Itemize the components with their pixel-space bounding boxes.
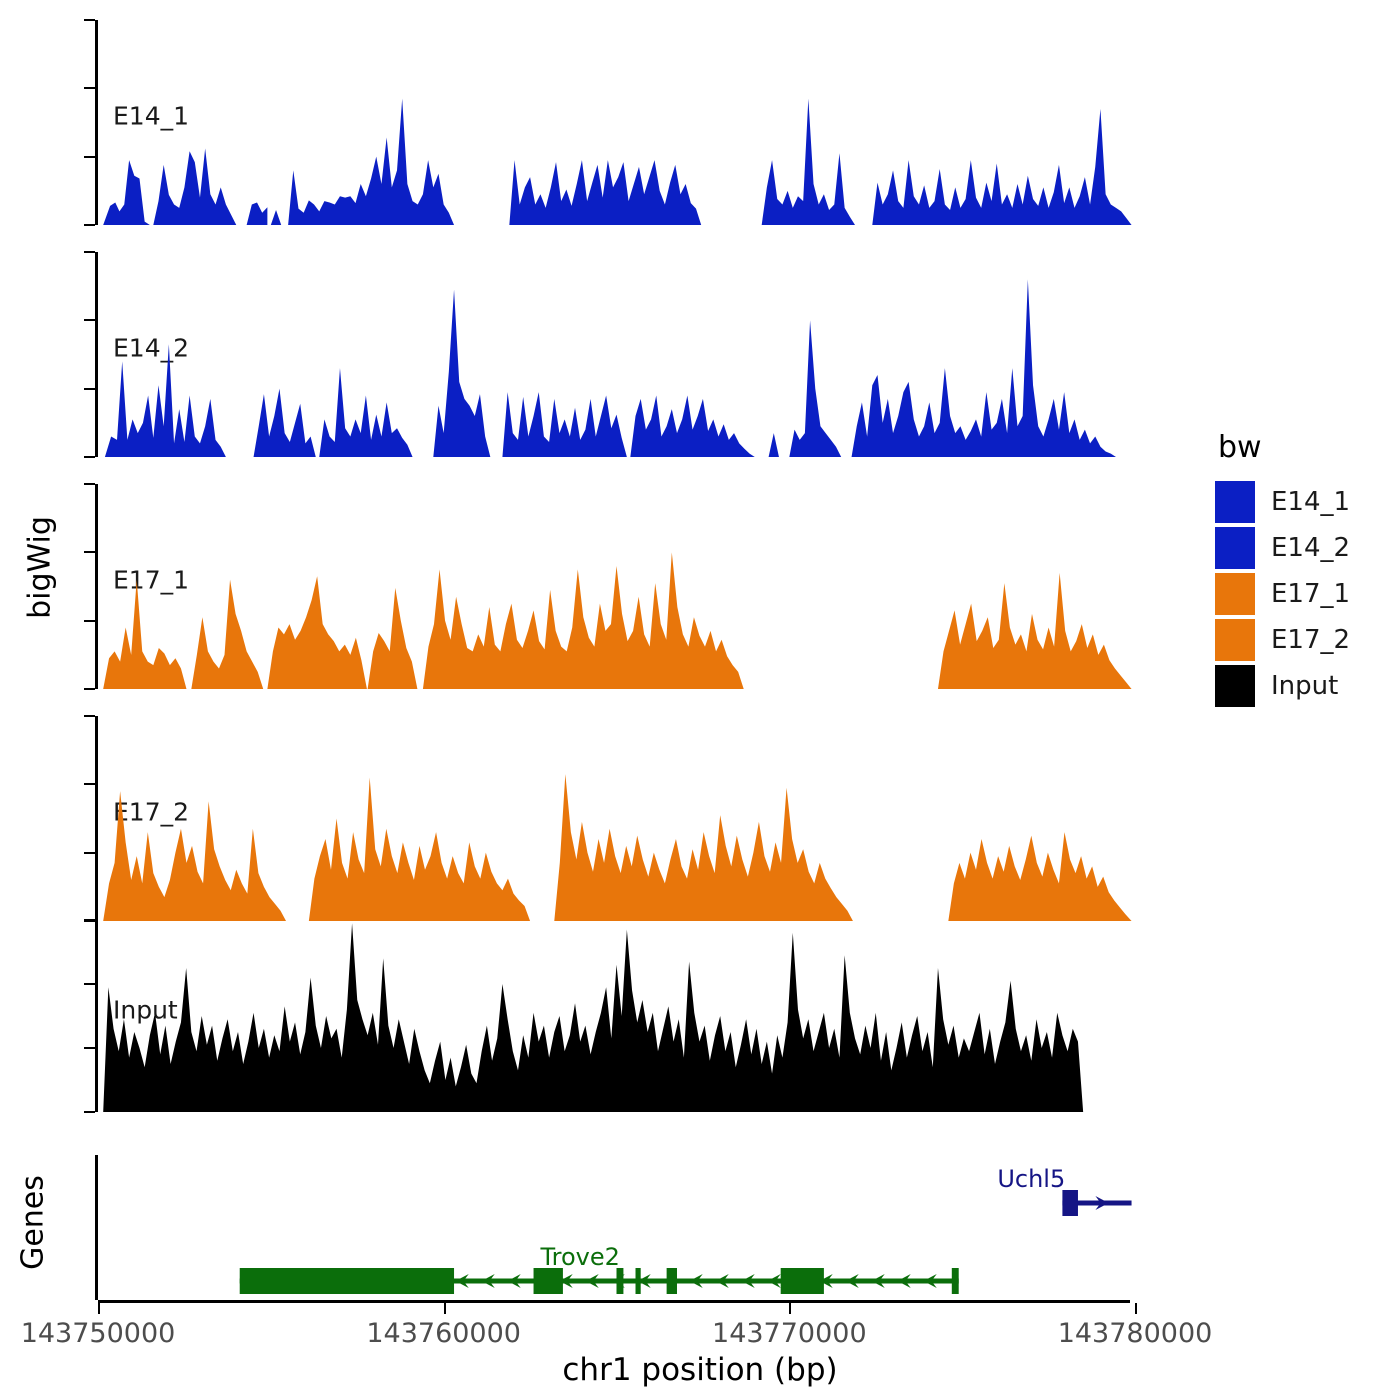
legend-item-e14_1[interactable]: E14_1 bbox=[1215, 479, 1395, 525]
y-tick bbox=[84, 551, 95, 553]
gene-model[interactable] bbox=[240, 1268, 959, 1294]
coverage-area bbox=[153, 148, 246, 225]
coverage-area bbox=[509, 160, 768, 225]
plot-area-e14_1 bbox=[98, 20, 1135, 225]
coverage-area bbox=[288, 99, 464, 225]
y-tick bbox=[84, 388, 95, 390]
coverage-area bbox=[502, 392, 626, 457]
coverage-area bbox=[368, 588, 418, 689]
y-tick bbox=[84, 224, 95, 226]
x-tick bbox=[98, 1303, 100, 1314]
gene-label-uchl5: Uchl5 bbox=[997, 1165, 1065, 1193]
y-tick bbox=[84, 87, 95, 89]
coverage-area bbox=[105, 344, 283, 457]
gene-exon bbox=[617, 1268, 624, 1294]
legend-item-input[interactable]: Input bbox=[1215, 663, 1395, 709]
coverage-area bbox=[769, 433, 779, 457]
y-tick bbox=[84, 983, 95, 985]
gene-exon bbox=[240, 1268, 454, 1294]
plot-area-e17_1 bbox=[98, 484, 1135, 689]
x-axis-line bbox=[98, 1300, 1130, 1303]
gene-label-trove2: Trove2 bbox=[541, 1243, 620, 1271]
coverage-area bbox=[319, 368, 412, 457]
y-tick bbox=[84, 456, 95, 458]
y-tick bbox=[84, 19, 95, 21]
legend-item-e17_2[interactable]: E17_2 bbox=[1215, 617, 1395, 663]
y-tick bbox=[84, 783, 95, 785]
coverage-area bbox=[789, 320, 841, 457]
coverage-area bbox=[103, 923, 1083, 1112]
coverage-area bbox=[948, 832, 1131, 921]
x-tick-label: 143770000 bbox=[712, 1318, 867, 1349]
plot-area-e17_2 bbox=[98, 716, 1135, 921]
coverage-area bbox=[852, 279, 1132, 457]
y-tick bbox=[84, 319, 95, 321]
y-tick bbox=[84, 620, 95, 622]
track-panel-input: 0123Input bbox=[95, 920, 1135, 1112]
coverage-area bbox=[938, 573, 1132, 689]
legend-label: E17_1 bbox=[1271, 579, 1350, 609]
legend-swatch-icon bbox=[1215, 527, 1255, 569]
coverage-area bbox=[554, 774, 969, 921]
plot-area-input bbox=[98, 920, 1135, 1112]
y-tick bbox=[84, 852, 95, 854]
legend-items: E14_1E14_2E17_1E17_2Input bbox=[1215, 479, 1395, 709]
y-tick bbox=[84, 919, 95, 921]
y-tick bbox=[84, 1047, 95, 1049]
coverage-area bbox=[254, 389, 316, 457]
gene-exon bbox=[534, 1268, 563, 1294]
plot-area-e14_2 bbox=[98, 252, 1135, 457]
legend-swatch-icon bbox=[1215, 619, 1255, 661]
coverage-area bbox=[423, 552, 959, 689]
coverage-area bbox=[191, 580, 263, 689]
x-tick bbox=[1135, 1303, 1137, 1314]
legend-title: bw bbox=[1218, 430, 1395, 465]
track-panel-e14_1: 0123E14_1 bbox=[95, 20, 1135, 225]
gene-model[interactable] bbox=[1062, 1190, 1131, 1216]
gene-exon bbox=[636, 1268, 641, 1294]
genome-browser-figure: bigWig Genes 0123E14_10123E14_20123E17_1… bbox=[0, 0, 1400, 1400]
genes-panel: Trove2Uchl5 bbox=[95, 1155, 1135, 1300]
gene-exon bbox=[667, 1268, 677, 1294]
coverage-area bbox=[762, 99, 855, 225]
x-tick-label: 143760000 bbox=[366, 1318, 521, 1349]
y-axis-title-bigwig: bigWig bbox=[23, 488, 58, 648]
track-panel-e17_1: 0123E17_1 bbox=[95, 484, 1135, 689]
x-tick bbox=[789, 1303, 791, 1314]
coverage-area bbox=[630, 396, 754, 458]
legend-swatch-icon bbox=[1215, 481, 1255, 523]
y-tick bbox=[84, 156, 95, 158]
coverage-area bbox=[267, 576, 367, 689]
legend-label: E14_2 bbox=[1271, 533, 1350, 563]
y-tick bbox=[84, 715, 95, 717]
track-panel-e14_2: 0123E14_2 bbox=[95, 252, 1135, 457]
legend-swatch-icon bbox=[1215, 665, 1255, 707]
y-tick bbox=[84, 483, 95, 485]
coverage-area bbox=[247, 202, 268, 225]
gene-exon bbox=[952, 1268, 959, 1294]
legend-label: E14_1 bbox=[1271, 487, 1350, 517]
y-tick bbox=[84, 251, 95, 253]
legend-label: Input bbox=[1271, 671, 1338, 701]
gene-exon bbox=[1062, 1190, 1078, 1216]
gene-exon bbox=[781, 1268, 824, 1294]
coverage-area bbox=[872, 109, 1131, 225]
x-axis-title: chr1 position (bp) bbox=[0, 1352, 1400, 1388]
gene-models-svg bbox=[98, 1155, 1135, 1300]
x-tick-label: 143750000 bbox=[21, 1318, 176, 1349]
track-panel-e17_2: 0123E17_2 bbox=[95, 716, 1135, 921]
coverage-area bbox=[103, 791, 319, 921]
y-tick bbox=[84, 1111, 95, 1113]
legend-swatch-icon bbox=[1215, 573, 1255, 615]
genes-plot-area bbox=[98, 1155, 1135, 1300]
legend-label: E17_2 bbox=[1271, 625, 1350, 655]
x-tick bbox=[444, 1303, 446, 1314]
coverage-area bbox=[433, 290, 490, 457]
coverage-area bbox=[271, 210, 281, 225]
coverage-area bbox=[309, 778, 586, 922]
x-tick-label: 143780000 bbox=[1058, 1318, 1213, 1349]
y-axis-title-genes: Genes bbox=[16, 1153, 51, 1293]
y-tick bbox=[84, 688, 95, 690]
legend-item-e14_2[interactable]: E14_2 bbox=[1215, 525, 1395, 571]
legend-item-e17_1[interactable]: E17_1 bbox=[1215, 571, 1395, 617]
legend: bw E14_1E14_2E17_1E17_2Input bbox=[1215, 430, 1395, 709]
